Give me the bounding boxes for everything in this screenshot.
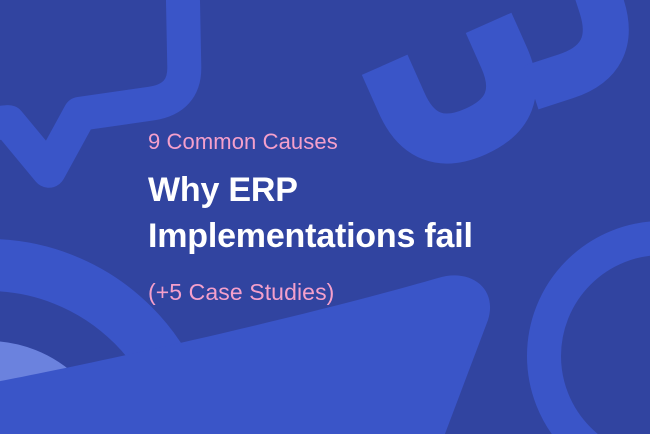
headline-line-2: Implementations fail: [148, 213, 628, 259]
cover-canvas: 9 Common Causes Why ERP Implementations …: [0, 0, 650, 434]
page-title: Why ERP Implementations fail: [148, 167, 628, 259]
eyebrow-text: 9 Common Causes: [148, 131, 628, 153]
subline-text: (+5 Case Studies): [148, 281, 628, 304]
text-block: 9 Common Causes Why ERP Implementations …: [148, 0, 628, 434]
headline-line-1: Why ERP: [148, 167, 628, 213]
